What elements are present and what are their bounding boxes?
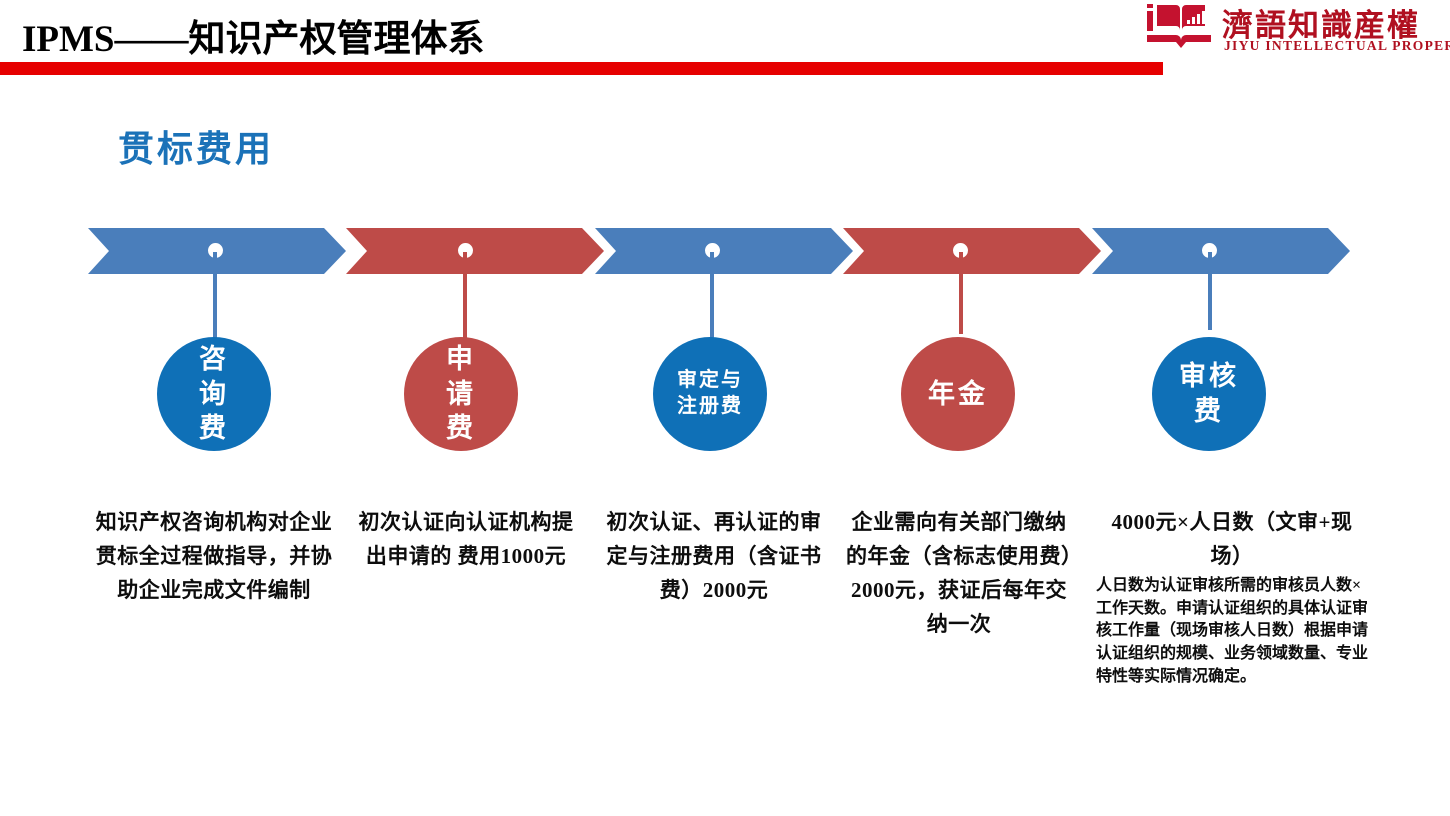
logo-name-en: JIYU INTELLECTUAL PROPERTY	[1224, 38, 1450, 54]
step-caption-text-4: 企业需向有关部门缴纳的年金（含标志使用费）2000元，获证后每年交纳一次	[843, 505, 1075, 641]
section-heading: 贯标费用	[118, 120, 274, 172]
step-caption-text-1: 知识产权咨询机构对企业贯标全过程做指导，并协助企业完成文件编制	[86, 505, 342, 607]
step-caption-note-5: 人日数为认证审核所需的审核员人数×工作天数。申请认证组织的具体认证审核工作量（现…	[1096, 575, 1368, 689]
step-caption-text-2: 初次认证向认证机构提出申请的 费用1000元	[350, 505, 582, 573]
step-circle-label-4: 年金	[913, 377, 1003, 412]
chevron-step-3[interactable]	[595, 228, 853, 274]
step-circle-label-2: 申请费	[432, 342, 490, 446]
step-circle-label-5: 审核费	[1178, 359, 1240, 428]
connector-stem-3	[710, 252, 714, 342]
company-logo: 濟語知識産權 JIYU INTELLECTUAL PROPERTY	[1142, 2, 1442, 58]
step-circle-2[interactable]: 申请费	[404, 337, 518, 451]
connector-stem-4	[959, 252, 963, 334]
step-circle-5[interactable]: 审核费	[1152, 337, 1266, 451]
step-caption-5: 4000元×人日数（文审+现场） 人日数为认证审核所需的审核员人数×工作天数。申…	[1096, 505, 1368, 689]
step-circle-3[interactable]: 审定与注册费	[653, 337, 767, 451]
connector-stem-1	[213, 252, 217, 340]
step-circle-label-3: 审定与注册费	[674, 368, 746, 419]
chevron-step-5[interactable]	[1092, 228, 1350, 274]
step-caption-1: 知识产权咨询机构对企业贯标全过程做指导，并协助企业完成文件编制	[86, 505, 342, 607]
step-caption-text-3: 初次认证、再认证的审定与注册费用（含证书费）2000元	[596, 505, 832, 607]
step-circle-label-1: 咨询费	[185, 342, 243, 446]
chevron-step-4[interactable]	[843, 228, 1101, 274]
step-caption-2: 初次认证向认证机构提出申请的 费用1000元	[350, 505, 582, 573]
process-chevron-band	[0, 228, 1450, 274]
step-caption-text-5: 4000元×人日数（文审+现场）	[1096, 505, 1368, 573]
page-title: IPMS——知识产权管理体系	[22, 8, 485, 62]
step-circle-1[interactable]: 咨询费	[157, 337, 271, 451]
step-circle-4[interactable]: 年金	[901, 337, 1015, 451]
connector-stem-2	[463, 252, 467, 340]
connector-stem-5	[1208, 252, 1212, 330]
slide-header: IPMS——知识产权管理体系 濟語知識産權 JIYU INTELLECTUAL …	[0, 0, 1450, 76]
chevron-step-1[interactable]	[88, 228, 346, 274]
step-caption-4: 企业需向有关部门缴纳的年金（含标志使用费）2000元，获证后每年交纳一次	[843, 505, 1075, 641]
header-red-rule	[0, 62, 1163, 75]
chevron-step-2[interactable]	[346, 228, 604, 274]
step-caption-3: 初次认证、再认证的审定与注册费用（含证书费）2000元	[596, 505, 832, 607]
open-book-icon	[1146, 4, 1212, 50]
